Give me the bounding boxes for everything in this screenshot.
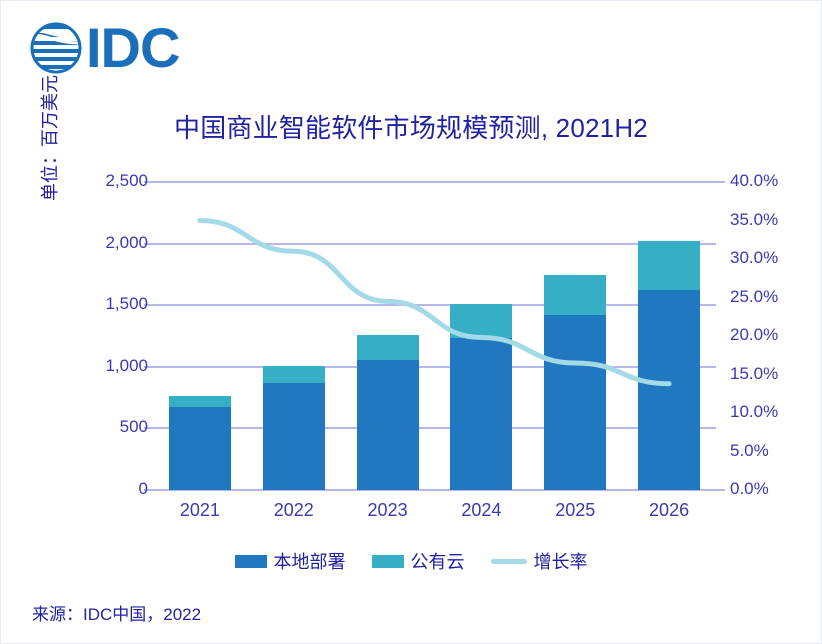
legend-line-swatch-icon [491,559,527,564]
legend-label: 增长率 [534,548,588,574]
y-axis-right-label: 25.0% [730,287,800,307]
x-axis-label: 2024 [431,500,531,521]
x-axis-label: 2023 [338,500,438,521]
legend-label: 本地部署 [274,548,346,574]
x-axis-label: 2025 [525,500,625,521]
y-axis-right-label: 15.0% [730,364,800,384]
y-tick-mark-right [716,181,725,183]
x-axis-label: 2026 [619,500,719,521]
y-axis-right-label: 20.0% [730,325,800,345]
legend-color-swatch-icon [235,555,267,568]
chart-page: IDC 中国商业智能软件市场规模预测, 2021H2 05001,0001,50… [0,0,822,644]
y-axis-left-label: 500 [78,417,148,437]
legend-item[interactable]: 公有云 [372,548,465,574]
legend-color-swatch-icon [372,555,404,568]
x-axis-label: 2021 [150,500,250,521]
y-axis-left-title: 单位：百万美元 [36,38,62,238]
y-axis-right-label: 35.0% [730,210,800,230]
y-axis-left-label: 0 [78,479,148,499]
y-axis-left-label: 1,500 [78,294,148,314]
source-note: 来源：IDC中国，2022 [32,600,201,625]
y-axis-right-label: 10.0% [730,402,800,422]
growth-rate-path[interactable] [200,221,669,384]
y-axis-right-label: 5.0% [730,441,800,461]
y-axis-right-label: 40.0% [730,171,800,191]
legend-item[interactable]: 本地部署 [235,548,346,574]
y-axis-right-label: 30.0% [730,248,800,268]
y-axis-left-label: 2,000 [78,233,148,253]
y-axis-left-label: 2,500 [78,171,148,191]
y-axis-right-label: 0.0% [730,479,800,499]
legend-item[interactable]: 增长率 [491,548,588,574]
y-tick-mark-right [716,489,725,491]
x-axis-label: 2022 [244,500,344,521]
growth-rate-line [153,182,716,490]
plot-area [153,182,716,490]
legend-label: 公有云 [411,548,465,574]
chart-legend: 本地部署公有云增长率 [0,548,822,574]
y-axis-left-label: 1,000 [78,356,148,376]
